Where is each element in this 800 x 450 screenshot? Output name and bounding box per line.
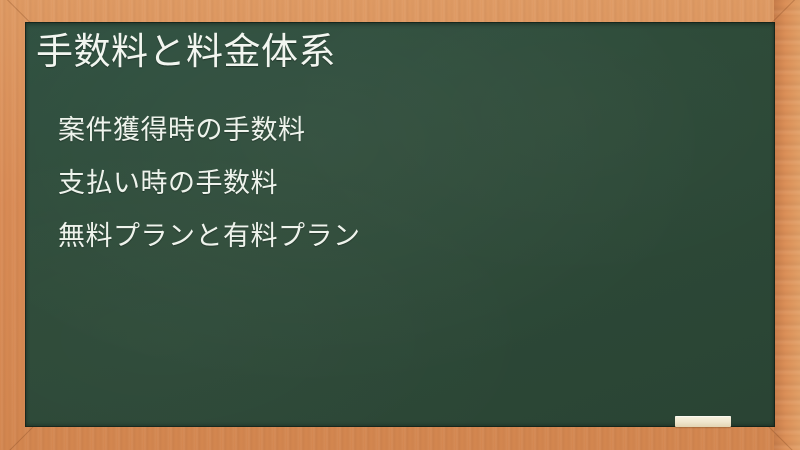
bullet-item-1: 案件獲得時の手数料 bbox=[58, 104, 361, 157]
bullet-item-3: 無料プランと有料プラン bbox=[58, 210, 361, 263]
chalk-stick bbox=[675, 416, 731, 427]
slide-title: 手数料と料金体系 bbox=[36, 29, 336, 75]
chalkboard-surface: 手数料と料金体系 案件獲得時の手数料 支払い時の手数料 無料プランと有料プラン bbox=[25, 22, 775, 427]
bullet-item-2: 支払い時の手数料 bbox=[58, 157, 361, 210]
bullet-list: 案件獲得時の手数料 支払い時の手数料 無料プランと有料プラン bbox=[58, 104, 361, 263]
slide-content: 手数料と料金体系 案件獲得時の手数料 支払い時の手数料 無料プランと有料プラン bbox=[25, 22, 775, 427]
frame-rail-right bbox=[774, 0, 800, 450]
chalkboard-frame: 手数料と料金体系 案件獲得時の手数料 支払い時の手数料 無料プランと有料プラン bbox=[0, 0, 800, 450]
frame-rail-left bbox=[0, 0, 26, 450]
